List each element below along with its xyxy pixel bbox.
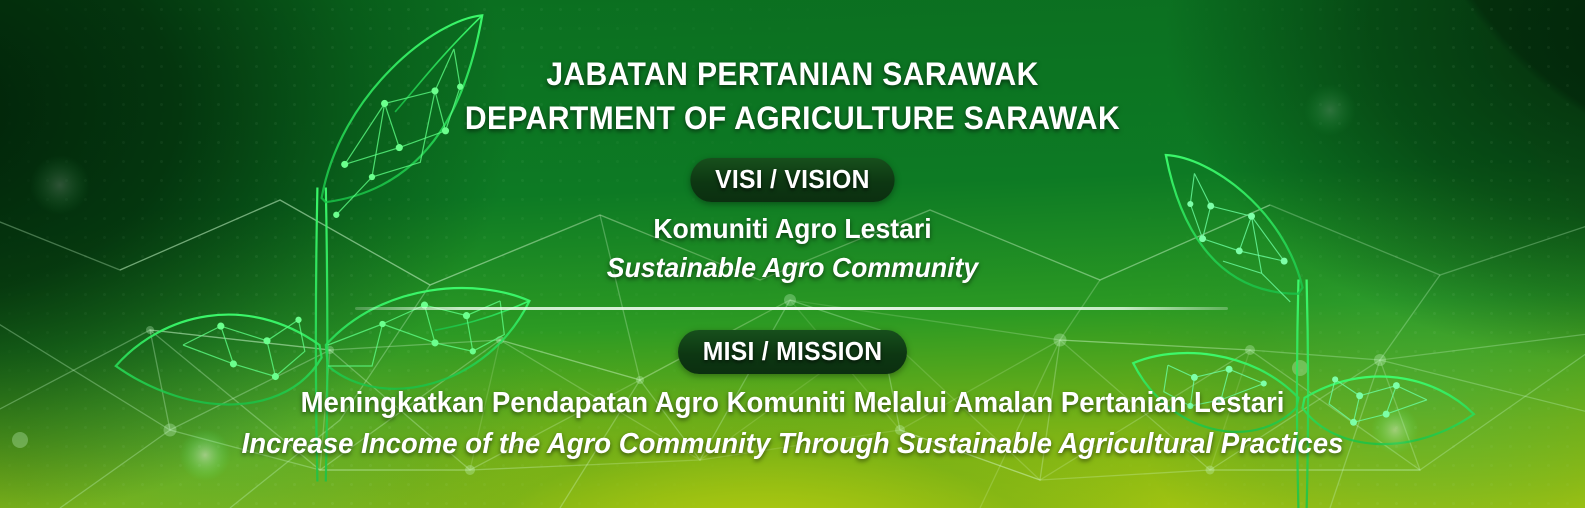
vision-mission-banner: JABATAN PERTANIAN SARAWAK DEPARTMENT OF … (0, 0, 1585, 508)
vision-statement-english: Sustainable Agro Community (40, 250, 1546, 286)
mission-badge: MISI / MISSION (678, 330, 907, 374)
vision-statement-malay: Komuniti Agro Lestari (40, 211, 1546, 247)
mission-statement-english: Increase Income of the Agro Community Th… (40, 425, 1546, 463)
mission-section: MISI / MISSION Meningkatkan Pendapatan A… (0, 330, 1585, 463)
org-name-malay: JABATAN PERTANIAN SARAWAK (48, 52, 1538, 96)
vision-section: VISI / VISION Komuniti Agro Lestari Sust… (0, 158, 1585, 286)
banner-content: JABATAN PERTANIAN SARAWAK DEPARTMENT OF … (0, 0, 1585, 508)
mission-statement-malay: Meningkatkan Pendapatan Agro Komuniti Me… (40, 384, 1546, 422)
section-divider (355, 307, 1228, 310)
organization-title: JABATAN PERTANIAN SARAWAK DEPARTMENT OF … (0, 0, 1585, 140)
org-name-english: DEPARTMENT OF AGRICULTURE SARAWAK (48, 96, 1538, 140)
vision-badge: VISI / VISION (690, 158, 894, 202)
